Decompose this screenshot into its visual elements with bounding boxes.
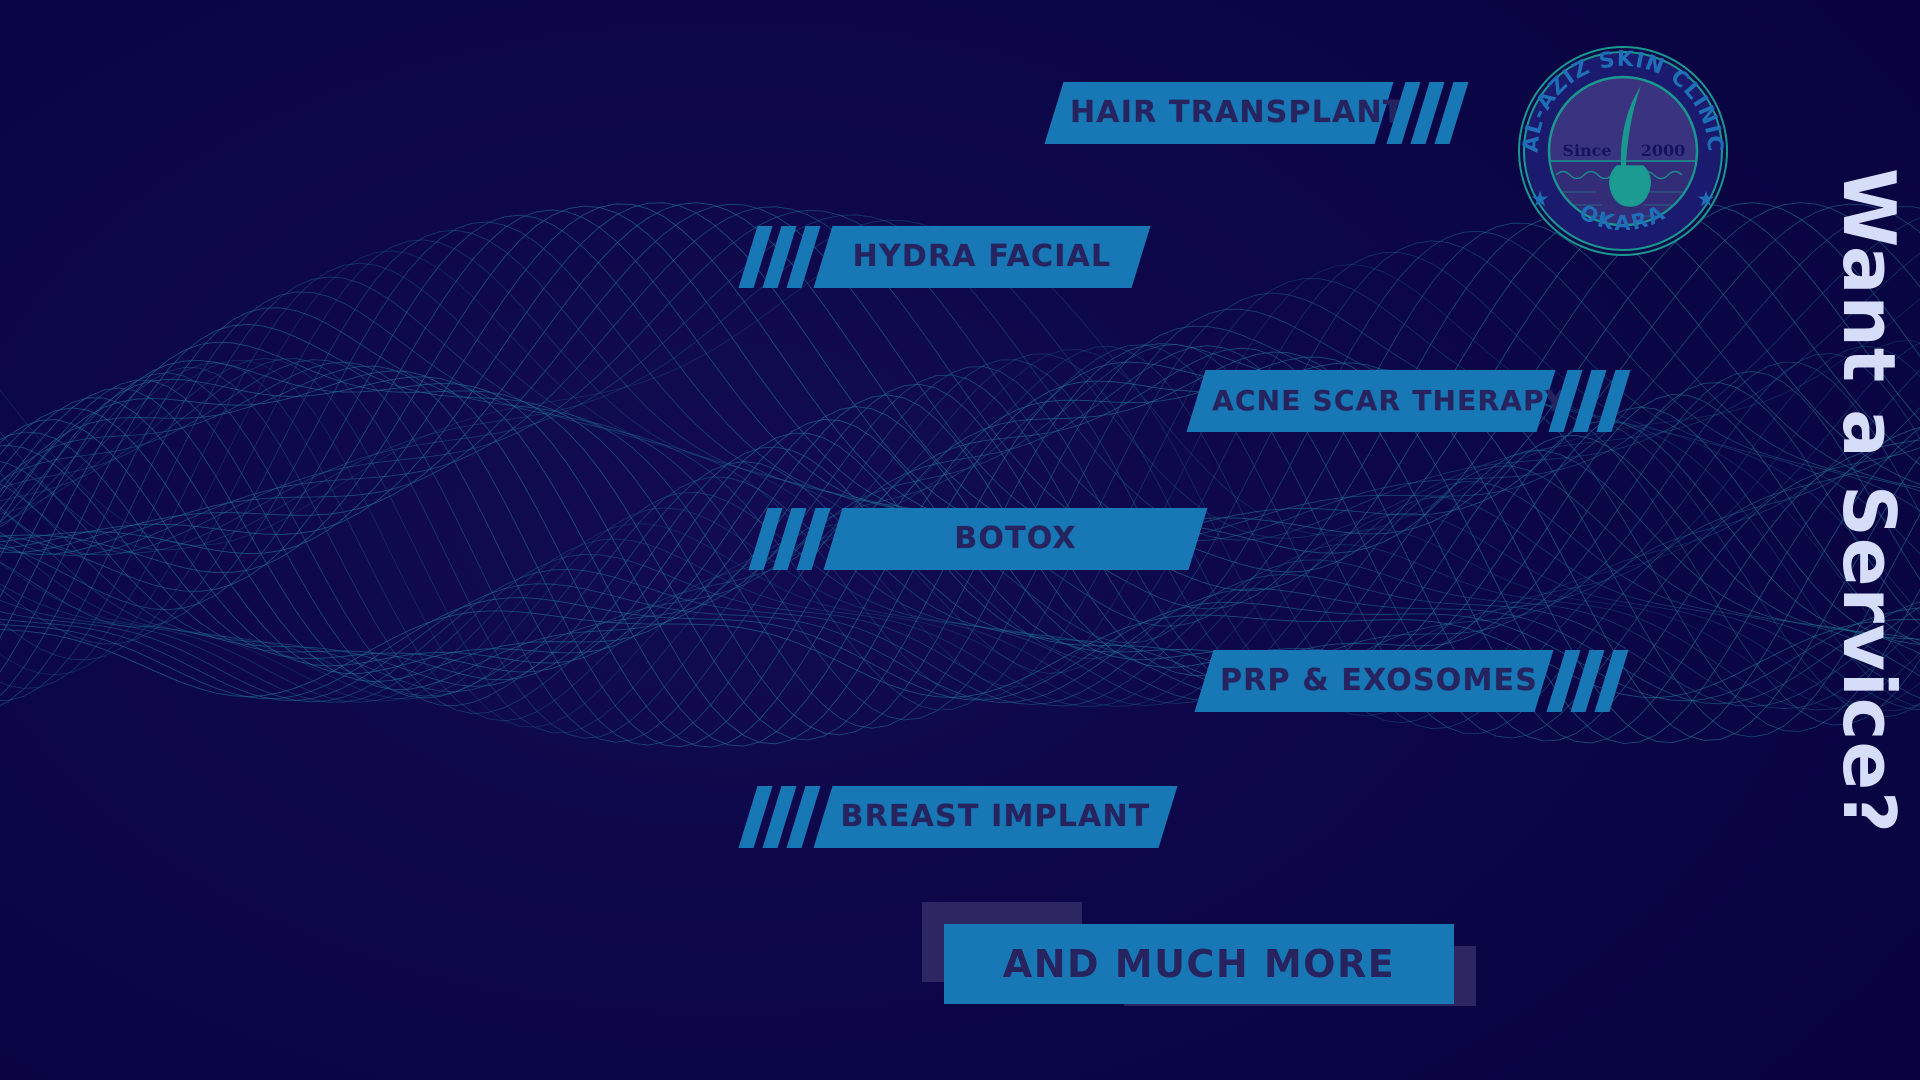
banner-plate[interactable]: BOTOX <box>824 508 1208 570</box>
service-banner[interactable]: ACNE SCAR THERAPY <box>1196 370 1621 432</box>
banner-plate[interactable]: HYDRA FACIAL <box>814 226 1151 288</box>
star-icon: ★ <box>1531 188 1550 211</box>
service-banner[interactable]: HYDRA FACIAL <box>748 226 1141 288</box>
banner-plate[interactable]: PRP & EXOSOMES <box>1195 650 1554 712</box>
banner-plate[interactable]: HAIR TRANSPLANT <box>1045 82 1394 144</box>
service-banner-label: BOTOX <box>833 524 1198 554</box>
service-banner[interactable]: BREAST IMPLANT <box>748 786 1168 848</box>
headline-block: Want a Service? <box>1826 0 1912 1080</box>
logo-since-year: 2000 <box>1641 141 1686 160</box>
wave-line <box>0 611 1920 698</box>
banner-stripe-accent <box>758 508 821 570</box>
banner-stripe-accent <box>1396 82 1459 144</box>
wave-line <box>0 240 1920 673</box>
banner-plate[interactable]: BREAST IMPLANT <box>814 786 1178 848</box>
wave-line <box>0 584 1920 704</box>
banner-stripe-accent <box>748 226 811 288</box>
service-banner[interactable]: PRP & EXOSOMES <box>1204 650 1619 712</box>
clinic-logo: AL-AZIZ SKIN CLINIC OKARA Since 2000 ★ ★ <box>1516 44 1730 258</box>
wave-line <box>0 277 1920 717</box>
wave-line <box>0 460 1920 698</box>
wave-line <box>0 263 1920 708</box>
and-much-more-plate[interactable]: AND MUCH MORE <box>944 924 1454 1004</box>
and-much-more-label: AND MUCH MORE <box>1003 945 1395 983</box>
service-banner-label: HYDRA FACIAL <box>823 242 1141 272</box>
wave-line <box>0 554 1920 708</box>
banner-stripe-accent <box>1558 370 1621 432</box>
banner-stripe-accent <box>1556 650 1619 712</box>
service-banner-label: ACNE SCAR THERAPY <box>1196 387 1546 415</box>
service-banner[interactable]: BOTOX <box>758 508 1198 570</box>
service-banner-label: BREAST IMPLANT <box>823 802 1168 832</box>
service-banner-label: HAIR TRANSPLANT <box>1054 98 1384 128</box>
star-icon: ★ <box>1697 188 1716 211</box>
wave-line <box>0 569 1920 706</box>
poster-canvas: HAIR TRANSPLANTHYDRA FACIALACNE SCAR THE… <box>0 0 1920 1080</box>
banner-plate[interactable]: ACNE SCAR THERAPY <box>1187 370 1556 432</box>
page-title: Want a Service? <box>1833 168 1905 834</box>
service-banner[interactable]: HAIR TRANSPLANT <box>1054 82 1459 144</box>
wave-line <box>0 230 1920 658</box>
wave-line <box>0 598 1920 701</box>
service-banner-label: PRP & EXOSOMES <box>1204 666 1544 696</box>
logo-since-label: Since <box>1562 141 1611 160</box>
banner-stripe-accent <box>748 786 811 848</box>
wave-line <box>0 251 1920 695</box>
and-much-more-banner[interactable]: AND MUCH MORE <box>944 924 1454 1004</box>
